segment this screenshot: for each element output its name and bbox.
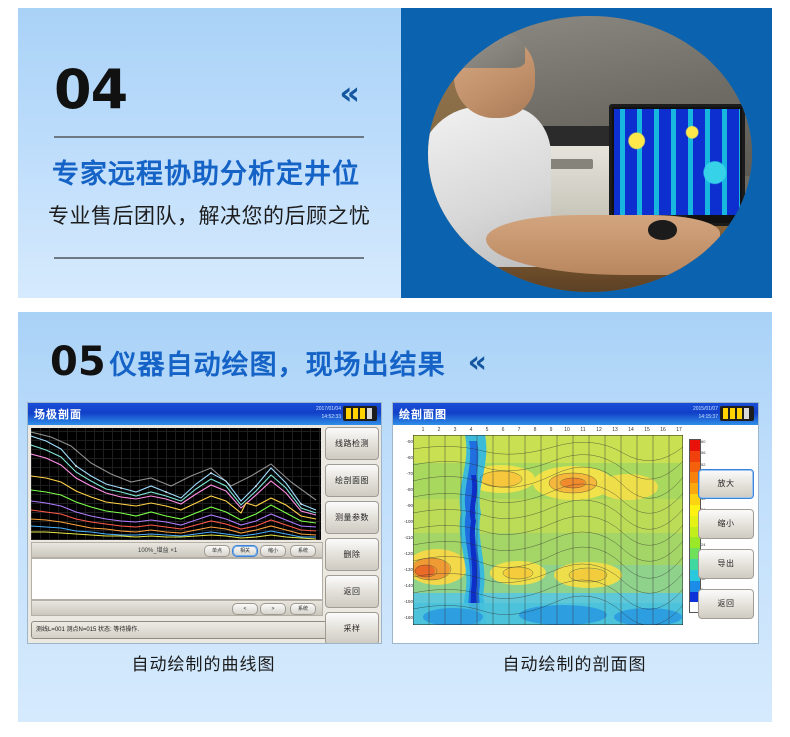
right-window-body: 1234567891011121314151617 -50-60-70-80-9… [393, 425, 758, 643]
data-list-area[interactable] [31, 558, 323, 600]
x-tick: 16 [660, 427, 666, 433]
right-software-screenshot: 绘剖面图 2015/01/07 14:15:37 123456789101112… [392, 402, 759, 644]
section-05-heading: 仪器自动绘图，现场出结果 [110, 343, 446, 382]
x-tick: 2 [438, 427, 441, 433]
battery-icon [343, 406, 377, 421]
right-window-timestamp: 2015/01/07 14:15:37 [693, 405, 718, 421]
photo-mouse [648, 220, 677, 239]
profile-y-axis-labels: -50-60-70-80-90-100-110-120-130-140-150-… [395, 439, 413, 625]
section-04-number: 04 [54, 63, 127, 117]
colorbar-swatch [690, 440, 700, 451]
double-chevron-left-icon: « [468, 345, 481, 380]
gain-label: 100%_增益 ×1 [138, 545, 177, 554]
double-chevron-left-icon: « [339, 77, 354, 109]
pager-system-button[interactable]: 系统 [290, 603, 316, 615]
right-window-titlebar: 绘剖面图 2015/01/07 14:15:37 [393, 403, 758, 425]
battery-icon [720, 406, 754, 421]
status-bar: 测线L=001 测点N=015 状态: 等待操作. [31, 621, 327, 639]
x-tick: 15 [644, 427, 650, 433]
divider-top [54, 136, 364, 138]
photo-monitor-screen [614, 109, 740, 215]
photo-ellipse-mask [428, 16, 752, 292]
back-button[interactable]: 返回 [698, 589, 754, 619]
side-button-draw-profile[interactable]: 绘剖面图 [325, 464, 379, 497]
x-tick: 6 [502, 427, 505, 433]
photo-person-hair [454, 30, 525, 69]
y-tick: -130 [404, 567, 413, 572]
y-tick: -140 [404, 583, 413, 588]
pager-next-button[interactable]: > [260, 603, 286, 615]
section-04-subheading: 专业售后团队，解决您的后顾之忧 [48, 204, 398, 230]
x-tick: 9 [550, 427, 553, 433]
x-tick: 13 [612, 427, 618, 433]
left-window-title: 场极剖面 [34, 406, 82, 422]
y-tick: -120 [404, 551, 413, 556]
colorbar-swatch [690, 451, 700, 462]
profile-heatmap-canvas [413, 435, 683, 625]
divider-bottom [54, 257, 364, 259]
export-button[interactable]: 导出 [698, 549, 754, 579]
y-tick: -110 [404, 535, 413, 540]
curve-plot-svg [31, 428, 321, 540]
side-button-sample[interactable]: 采样 [325, 612, 379, 644]
curve-plot-canvas [31, 428, 321, 540]
side-button-back[interactable]: 返回 [325, 575, 379, 608]
section-04-heading: 专家远程协助分析定井位 [52, 158, 382, 190]
left-window-body: 100%_增益 ×1 单点 相关 缩小 系统 < > 系统 测线L=001 测点… [28, 425, 381, 643]
y-tick: -100 [404, 519, 413, 524]
x-tick: 4 [470, 427, 473, 433]
x-tick: 11 [580, 427, 585, 433]
section-04-number-row: 04 « [54, 63, 374, 125]
x-tick: 5 [486, 427, 489, 433]
x-tick: 7 [518, 427, 521, 433]
colorbar-tick: 56 [701, 450, 705, 455]
colorbar-tick: 60 [701, 439, 705, 444]
pager-toolbar[interactable]: < > 系统 [31, 600, 323, 616]
toolbar-button-system[interactable]: 系统 [290, 545, 316, 557]
photo-monitor [609, 104, 745, 226]
x-tick: 8 [534, 427, 537, 433]
section-05: 05 仪器自动绘图，现场出结果 « 场极剖面 2017/01/04 14:52:… [18, 312, 772, 722]
profile-heatmap-svg [413, 435, 683, 625]
caption-left: 自动绘制的曲线图 [27, 650, 380, 675]
side-button-delete[interactable]: 删除 [325, 538, 379, 571]
pager-prev-button[interactable]: < [232, 603, 258, 615]
x-tick: 1 [422, 427, 425, 433]
toolbar-button-single-point[interactable]: 单点 [204, 545, 230, 557]
x-tick: 14 [628, 427, 634, 433]
x-tick: 12 [596, 427, 602, 433]
left-window-titlebar: 场极剖面 2017/01/04 14:52:33 [28, 403, 381, 425]
section-05-header: 05 仪器自动绘图，现场出结果 « [50, 340, 481, 384]
right-window-title: 绘剖面图 [399, 406, 447, 422]
toolbar-button-correlate[interactable]: 相关 [232, 545, 258, 557]
toolbar-button-zoom-out[interactable]: 缩小 [260, 545, 286, 557]
left-software-screenshot: 场极剖面 2017/01/04 14:52:33 [27, 402, 382, 644]
left-window-side-buttons: 线路检测 绘剖面图 测量参数 删除 返回 采样 [325, 427, 379, 641]
right-window-side-buttons: 放大 缩小 导出 返回 [698, 469, 754, 629]
side-button-measure-params[interactable]: 测量参数 [325, 501, 379, 534]
colorbar-tick: 52 [701, 462, 705, 467]
y-tick: -160 [404, 615, 413, 620]
profile-x-axis-labels: 1234567891011121314151617 [417, 427, 683, 435]
x-tick: 3 [454, 427, 457, 433]
plot-toolbar[interactable]: 100%_增益 ×1 单点 相关 缩小 系统 [31, 542, 323, 558]
section-05-number: 05 [50, 342, 106, 382]
section-04-text-panel: 04 « 专家远程协助分析定井位 专业售后团队，解决您的后顾之忧 [18, 8, 401, 298]
zoom-out-button[interactable]: 缩小 [698, 509, 754, 539]
zoom-in-button[interactable]: 放大 [698, 469, 754, 499]
section-04-photo-panel [401, 8, 772, 298]
left-window-timestamp: 2017/01/04 14:52:33 [316, 405, 341, 421]
x-tick: 17 [676, 427, 682, 433]
x-tick: 10 [564, 427, 570, 433]
caption-right: 自动绘制的剖面图 [392, 650, 757, 675]
side-button-line-test[interactable]: 线路检测 [325, 427, 379, 460]
section-04: 04 « 专家远程协助分析定井位 专业售后团队，解决您的后顾之忧 [18, 8, 772, 298]
y-tick: -150 [404, 599, 413, 604]
page-root: 04 « 专家远程协助分析定井位 专业售后团队，解决您的后顾之忧 [0, 0, 790, 737]
